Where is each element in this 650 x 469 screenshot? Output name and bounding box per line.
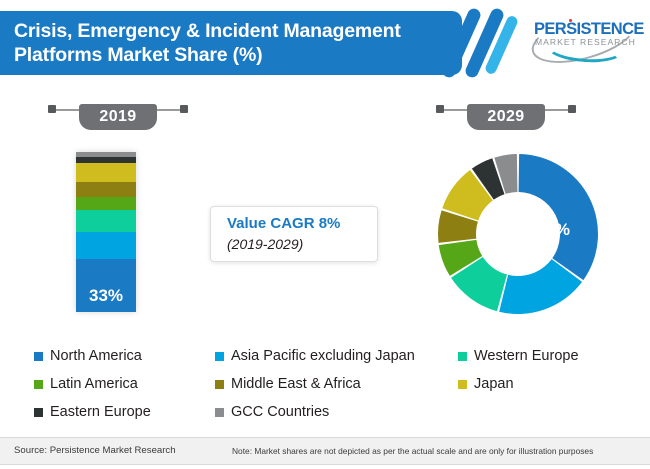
- persistence-market-research-logo: PERSISTENCE MARKET RESEARCH: [528, 12, 640, 62]
- year-connector-cap-left-icon: [436, 105, 444, 113]
- legend-swatch-icon: [215, 380, 224, 389]
- bar-segment: [76, 210, 136, 232]
- bar-segment: [76, 232, 136, 259]
- donut-chart-svg: [432, 148, 604, 320]
- legend-swatch-icon: [458, 352, 467, 361]
- cagr-callout-box: Value CAGR 8% (2019-2029): [210, 206, 378, 262]
- logo-tagline: MARKET RESEARCH: [535, 37, 636, 47]
- legend-swatch-icon: [458, 380, 467, 389]
- legend-item-label: Eastern Europe: [50, 404, 151, 420]
- stacked-bar-chart-2019: 33%: [76, 152, 136, 312]
- legend-item: North America: [34, 348, 142, 364]
- cagr-value: Value CAGR 8%: [227, 215, 340, 232]
- header: Crisis, Emergency & Incident Management …: [0, 11, 462, 75]
- year-pill-2029: 2029: [467, 104, 545, 130]
- chart-legend: North AmericaAsia Pacific excluding Japa…: [34, 348, 634, 420]
- legend-swatch-icon: [215, 352, 224, 361]
- year-connector-cap-right-icon: [180, 105, 188, 113]
- infographic-root: Crisis, Emergency & Incident Management …: [0, 0, 650, 469]
- legend-swatch-icon: [34, 408, 43, 417]
- cagr-period: (2019-2029): [227, 236, 303, 252]
- legend-swatch-icon: [215, 408, 224, 417]
- legend-item: Asia Pacific excluding Japan: [215, 348, 415, 364]
- year-label-2019-group: 2019: [48, 100, 188, 134]
- footer-source-text: Source: Persistence Market Research: [14, 445, 176, 456]
- footer-note-text: Note: Market shares are not depicted as …: [232, 446, 593, 456]
- legend-item-label: Asia Pacific excluding Japan: [231, 348, 415, 364]
- legend-item-label: North America: [50, 348, 142, 364]
- legend-item-label: GCC Countries: [231, 404, 329, 420]
- legend-item: Latin America: [34, 376, 138, 392]
- bar-data-label: 33%: [76, 286, 136, 306]
- year-connector-cap-right-icon: [568, 105, 576, 113]
- legend-item: Middle East & Africa: [215, 376, 361, 392]
- bar-segment: [76, 197, 136, 210]
- legend-item: Western Europe: [458, 348, 579, 364]
- bar-segment: [76, 182, 136, 196]
- legend-item: Japan: [458, 376, 514, 392]
- year-label-2029-group: 2029: [436, 100, 576, 134]
- donut-data-label: 35%: [536, 220, 570, 240]
- legend-item-label: Western Europe: [474, 348, 579, 364]
- donut-segment: [519, 154, 598, 280]
- donut-chart-2029: 35%: [432, 148, 604, 320]
- legend-item-label: Latin America: [50, 376, 138, 392]
- legend-swatch-icon: [34, 380, 43, 389]
- year-pill-2019: 2019: [79, 104, 157, 130]
- legend-item: Eastern Europe: [34, 404, 151, 420]
- bar-segment: 33%: [76, 259, 136, 312]
- footer-bar: Source: Persistence Market Research Note…: [0, 437, 650, 465]
- bar-segment: [76, 163, 136, 182]
- year-connector-cap-left-icon: [48, 105, 56, 113]
- legend-item: GCC Countries: [215, 404, 329, 420]
- legend-item-label: Japan: [474, 376, 514, 392]
- legend-item-label: Middle East & Africa: [231, 376, 361, 392]
- logo-accent-dot-icon: [569, 19, 573, 23]
- legend-swatch-icon: [34, 352, 43, 361]
- page-title: Crisis, Emergency & Incident Management …: [14, 19, 444, 67]
